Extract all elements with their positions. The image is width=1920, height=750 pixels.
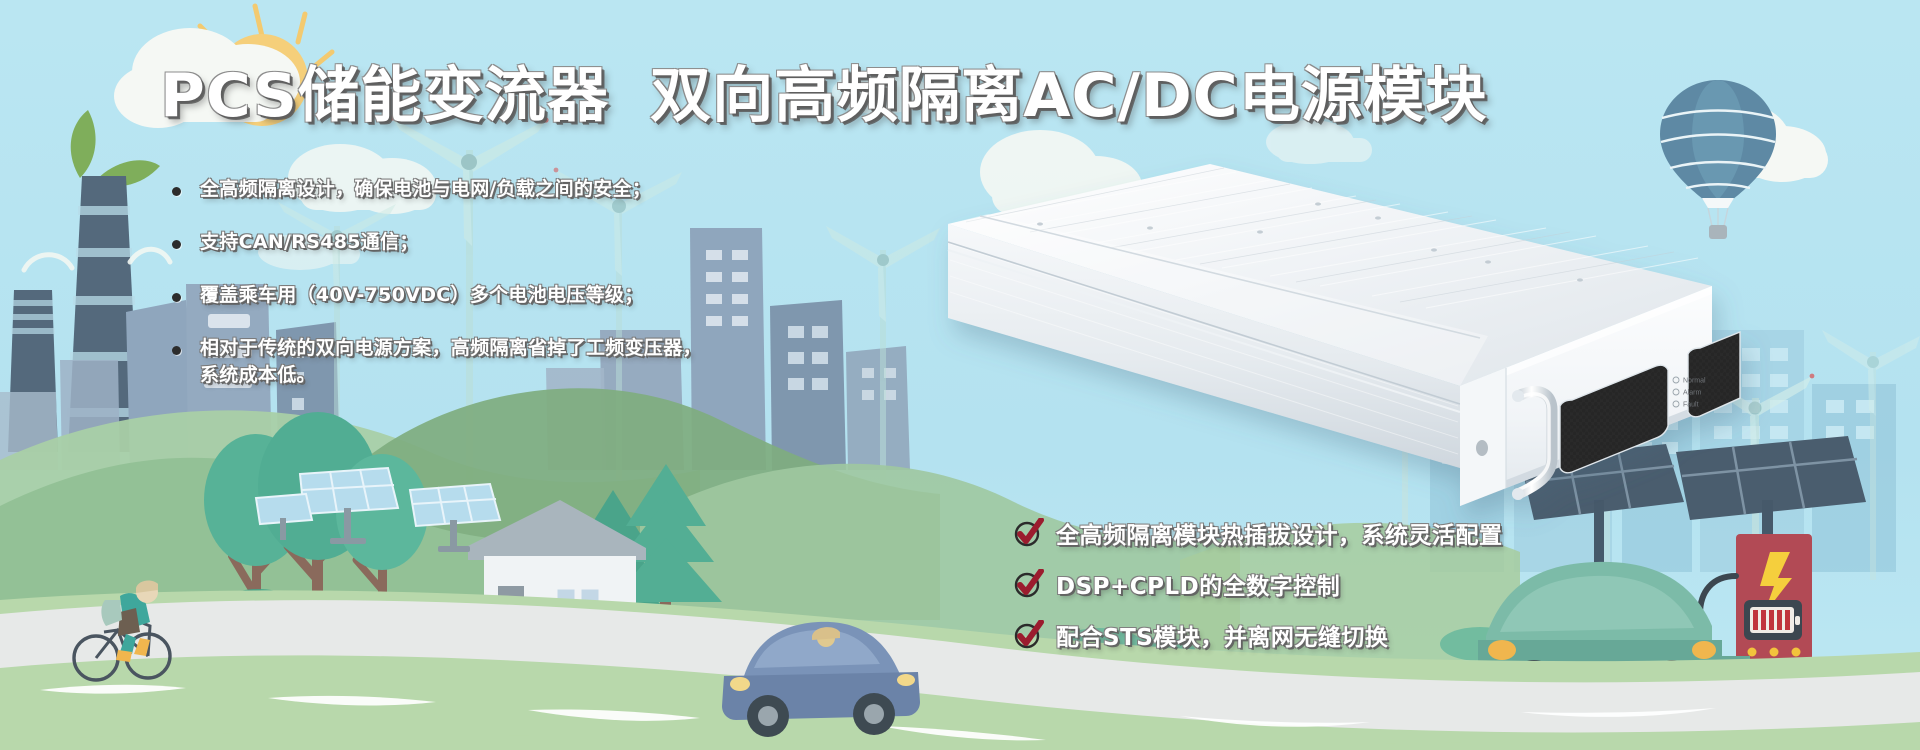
list-item: DSP+CPLD的全数字控制 <box>1014 567 1503 601</box>
list-item: 全高频隔离模块热插拔设计，系统灵活配置 <box>1014 516 1503 550</box>
feature-text: 支持CAN/RS485通信； <box>200 229 419 256</box>
check-circle-icon <box>1014 620 1044 650</box>
power-module-product-image: Normal Alarm Fault <box>940 158 1740 488</box>
feature-text: 全高频隔离设计，确保电池与电网/负载之间的安全； <box>200 176 651 203</box>
promotional-banner: Normal Alarm Fault PCS储能变流器双向高频隔离AC/DC电源… <box>0 0 1920 750</box>
led-label-fault: Fault <box>1683 402 1699 409</box>
feature-bullet-list: 全高频隔离设计，确保电池与电网/负载之间的安全； 支持CAN/RS485通信； … <box>172 176 872 415</box>
feature-text: 相对于传统的双向电源方案，高频隔离省掉了工频变压器， 系统成本低。 <box>200 335 702 389</box>
bullet-dot-icon <box>172 187 181 196</box>
list-item: 全高频隔离设计，确保电池与电网/负载之间的安全； <box>172 176 872 203</box>
bullet-dot-icon <box>172 293 181 302</box>
highlight-check-list: 全高频隔离模块热插拔设计，系统灵活配置 DSP+CPLD的全数字控制 配合STS… <box>1014 516 1503 669</box>
list-item: 相对于传统的双向电源方案，高频隔离省掉了工频变压器， 系统成本低。 <box>172 335 872 389</box>
list-item: 覆盖乘车用（40V-750VDC）多个电池电压等级； <box>172 282 872 309</box>
highlight-text: 全高频隔离模块热插拔设计，系统灵活配置 <box>1056 516 1503 550</box>
check-circle-icon <box>1014 518 1044 548</box>
led-label-alarm: Alarm <box>1683 390 1701 397</box>
check-circle-icon <box>1014 569 1044 599</box>
highlight-text: DSP+CPLD的全数字控制 <box>1056 567 1340 601</box>
led-label-normal: Normal <box>1683 378 1706 385</box>
list-item: 支持CAN/RS485通信； <box>172 229 872 256</box>
bullet-dot-icon <box>172 346 181 355</box>
feature-text: 覆盖乘车用（40V-750VDC）多个电池电压等级； <box>200 282 644 309</box>
bullet-dot-icon <box>172 240 181 249</box>
highlight-text: 配合STS模块，并离网无缝切换 <box>1056 618 1388 652</box>
list-item: 配合STS模块，并离网无缝切换 <box>1014 618 1503 652</box>
